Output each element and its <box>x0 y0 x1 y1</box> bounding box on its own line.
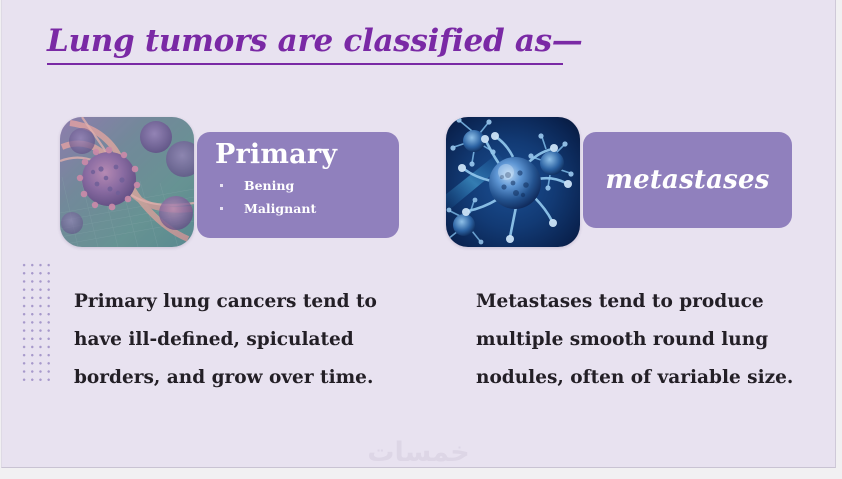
list-item-label: Malignant <box>244 201 316 216</box>
dot-grid-decoration <box>20 261 51 384</box>
slide-canvas: Lung tumors are classified as— <box>1 0 836 468</box>
title-underline <box>47 63 563 65</box>
list-item: Malignant <box>215 198 385 220</box>
bullet-dot-icon <box>220 184 223 187</box>
bullet-dot-icon <box>220 207 223 210</box>
list-item-label: Bening <box>244 178 294 193</box>
page-title: Lung tumors are classified as— <box>47 23 582 59</box>
primary-heading: Primary <box>215 141 385 169</box>
metastases-heading: metastases <box>605 165 769 195</box>
list-item: Bening <box>215 175 385 197</box>
primary-body-text: Primary lung cancers tend to have ill-de… <box>74 283 404 397</box>
primary-label-box: Primary Bening Malignant <box>197 132 399 238</box>
metastases-label-box: metastases <box>583 132 792 228</box>
blue-virus-particle-image <box>446 117 580 247</box>
primary-bullet-list: Bening Malignant <box>215 175 385 220</box>
watermark: خمسات <box>2 437 835 468</box>
slide: Lung tumors are classified as— <box>0 0 842 479</box>
metastases-body-text: Metastases tend to produce multiple smoo… <box>476 283 818 397</box>
virus-cells-microscopy-image <box>60 117 194 247</box>
